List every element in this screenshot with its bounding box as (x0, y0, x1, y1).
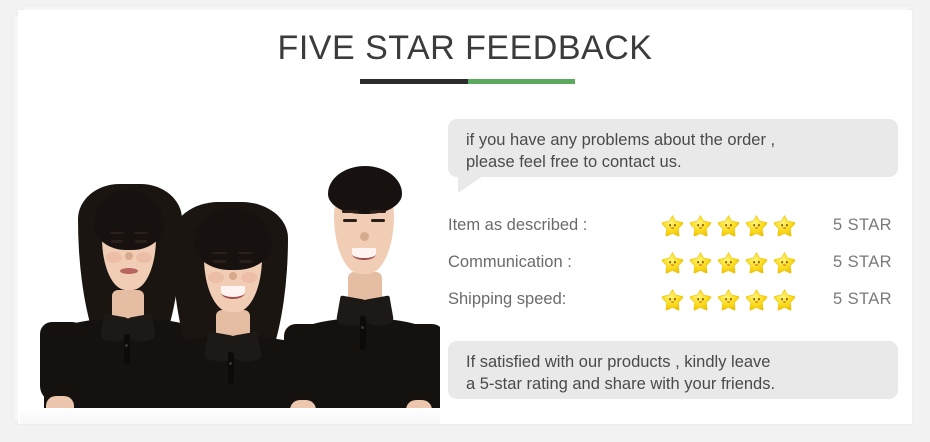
rating-row-communication: Communication : 5 STAR (448, 244, 900, 281)
star-icon (688, 251, 713, 275)
star-icon (772, 214, 797, 238)
star-icon (744, 288, 769, 312)
rating-stars (660, 251, 808, 275)
star-icon (688, 288, 713, 312)
contact-message-bubble: if you have any problems about the order… (448, 119, 898, 177)
star-icon (772, 251, 797, 275)
rating-row-shipping-speed: Shipping speed: 5 STAR (448, 281, 900, 318)
satisfaction-message-line2: a 5-star rating and share with your frie… (466, 373, 884, 395)
rating-value: 5 STAR (808, 216, 900, 235)
star-icon (660, 251, 685, 275)
rating-label: Shipping speed: (448, 290, 660, 309)
rating-label: Item as described : (448, 216, 660, 235)
bubble-tail (458, 176, 483, 193)
satisfaction-message-line1: If satisfied with our products , kindly … (466, 351, 884, 373)
rating-row-item-as-described: Item as described : 5 STAR (448, 207, 900, 244)
star-icon (660, 288, 685, 312)
title-underline-green (468, 79, 575, 84)
rating-label: Communication : (448, 253, 660, 272)
star-icon (716, 288, 741, 312)
title-underline (360, 79, 575, 84)
rating-stars (660, 288, 808, 312)
rating-list: Item as described : 5 STAR Communication… (448, 207, 900, 318)
star-icon (688, 214, 713, 238)
feedback-card: FIVE STAR FEEDBACK (18, 10, 912, 424)
card-edge-left (11, 16, 18, 420)
star-icon (772, 288, 797, 312)
page-title: FIVE STAR FEEDBACK (0, 29, 930, 68)
star-icon (716, 214, 741, 238)
star-icon (660, 214, 685, 238)
star-icon (716, 251, 741, 275)
star-icon (744, 214, 769, 238)
contact-message-line2: please feel free to contact us. (466, 151, 884, 173)
team-photo (20, 104, 440, 424)
title-underline-dark (360, 79, 468, 84)
rating-stars (660, 214, 808, 238)
feedback-banner: FIVE STAR FEEDBACK (0, 0, 930, 442)
satisfaction-message-bubble: If satisfied with our products , kindly … (448, 341, 898, 399)
rating-value: 5 STAR (808, 290, 900, 309)
rating-value: 5 STAR (808, 253, 900, 272)
contact-message-line1: if you have any problems about the order… (466, 129, 884, 151)
star-icon (744, 251, 769, 275)
photo-floor (20, 408, 440, 424)
